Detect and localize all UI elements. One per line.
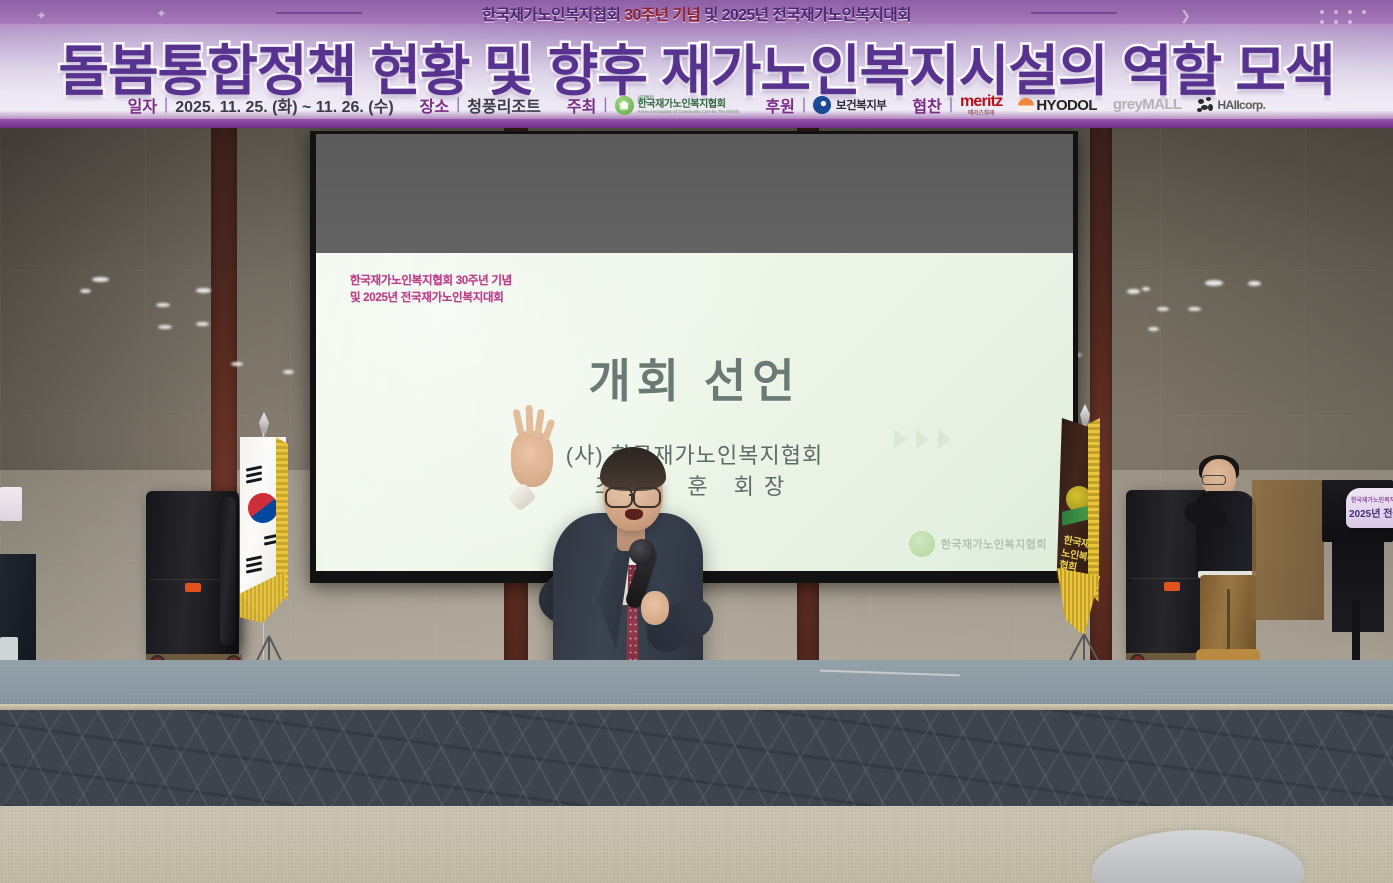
slide-footer-logo-text: 한국재가노인복지협회	[941, 536, 1047, 552]
left-wall-sign	[0, 487, 22, 521]
banner-support-label: 후원	[765, 93, 794, 117]
lectern-sign-line1: 한국재가노인복지협회	[1351, 495, 1393, 504]
banner-subtitle-part1: 한국재가노인복지협회	[482, 7, 625, 24]
ceiling-light-reflection	[1248, 281, 1261, 286]
ceiling-light-reflection	[92, 277, 109, 282]
banner-place-label: 장소	[420, 93, 449, 117]
staff-pant-split	[1227, 589, 1230, 653]
support-logo-text: 보건복지부	[836, 97, 886, 113]
presenter-finger	[512, 409, 524, 436]
presenter-finger	[541, 418, 555, 441]
banner-sponsor-label: 협찬	[912, 93, 941, 117]
banner-subtitle-part2: 및 2025년 전국재가노인복지대회	[700, 7, 911, 24]
house-logo-icon	[615, 96, 634, 115]
host-logo-en: Korea Association of Community Care for …	[638, 110, 740, 114]
flag-gold-fringe	[1054, 568, 1102, 636]
ceiling-light-reflection	[231, 362, 243, 366]
ceiling-light-reflection	[1142, 287, 1150, 291]
sponsor-meritz-name: meritz	[960, 94, 1002, 110]
banner-place-value: 청풍리조트	[467, 93, 541, 117]
wooden-pallet	[1252, 480, 1324, 620]
hall-dots-icon	[1197, 97, 1214, 114]
lectern-event-sign: 한국재가노인복지협회 2025년 전국	[1346, 488, 1393, 528]
ceiling-light-reflection	[156, 303, 170, 307]
eyeglasses-bridge-icon	[629, 494, 635, 496]
speaker-cabinet-left-rear	[220, 497, 236, 645]
sponsor-logo-greymall: greyMALL	[1113, 96, 1182, 114]
event-banner: ✦ ✦ ✦ ❯ 한국재가노인복지협회 30주년 기념 및 2025년 전국재가노…	[0, 0, 1393, 128]
ceiling-light-reflection	[158, 325, 172, 329]
presenter-mic-hand	[641, 591, 669, 625]
ceiling-light-reflection	[1157, 307, 1169, 311]
ceiling-light-reflection	[196, 288, 211, 293]
banner-date-label: 일자	[128, 93, 157, 117]
banner-divider: |	[456, 96, 460, 114]
jbl-logo-icon	[1164, 582, 1180, 591]
jbl-logo-icon	[185, 583, 201, 592]
korean-national-flag	[240, 437, 296, 632]
hyodol-mascot-icon	[1018, 98, 1034, 112]
banner-divider: |	[949, 96, 953, 114]
ceiling-light-reflection	[1148, 327, 1159, 331]
banner-subtitle-highlight: 30주년 기념	[624, 7, 700, 24]
banner-host-label: 주최	[567, 93, 596, 117]
sponsor-hyodol-name: HYODOL	[1036, 97, 1097, 114]
sponsor-logo-hyodol: HYODOL	[1018, 97, 1097, 114]
projection-screen-upper-dark	[316, 134, 1073, 253]
presenter-hair	[600, 447, 666, 491]
banner-divider: |	[603, 96, 607, 114]
slide-kicker: 한국재가노인복지협회 30주년 기념 및 2025년 전국재가노인복지대회	[350, 273, 512, 306]
ceiling-light-reflection	[1205, 280, 1223, 286]
banner-divider: |	[802, 96, 806, 114]
ceiling-light-reflection	[283, 370, 294, 374]
slide-arrow-decoration	[894, 429, 951, 449]
ceiling-light-reflection	[1127, 289, 1140, 294]
microphone-head-icon	[629, 539, 655, 565]
eyeglasses-icon	[605, 487, 633, 508]
presenter-finger	[525, 405, 533, 435]
lectern-podium: 한국재가노인복지협회 2025년 전국	[1322, 480, 1393, 680]
slide-footer-logo: 한국재가노인복지협회	[909, 531, 1047, 557]
banner-divider: |	[164, 96, 168, 114]
ceiling-light-reflection	[80, 289, 91, 293]
eyeglasses-icon	[1202, 475, 1226, 485]
banner-date-value: 2025. 11. 25. (화) ~ 11. 26. (수)	[175, 93, 393, 117]
presenter-mouth	[625, 509, 643, 520]
sponsor-logo-hallcorp: HAIIcorp.	[1197, 97, 1265, 114]
lectern-sign-line2: 2025년 전국	[1349, 505, 1393, 520]
sponsor-meritz-sub: 메리츠화재	[968, 111, 995, 117]
slide-kicker-line1: 한국재가노인복지협회 30주년 기념	[350, 273, 512, 290]
association-logo-mark-icon	[909, 531, 935, 557]
conference-stage-photo: 한국재가노인복지협회 30주년 기념 및 2025년 전국재가노인복지대회 개회…	[0, 0, 1393, 883]
taeguk-emblem-icon	[813, 96, 831, 114]
host-logo-kacce: 사단법인 한국재가노인복지협회 Korea Association of Com…	[615, 96, 740, 115]
banner-info-row: 일자 | 2025. 11. 25. (화) ~ 11. 26. (수) 장소 …	[0, 93, 1393, 117]
support-logo-mohw: 보건복지부	[813, 96, 886, 114]
slide-kicker-line2: 및 2025년 전국재가노인복지대회	[350, 290, 512, 307]
sponsor-greymall-name: greyMALL	[1113, 96, 1182, 113]
sponsor-logo-meritz: meritz 메리츠화재	[960, 94, 1002, 117]
association-ceremonial-flag: 한국재가노인복지협회 Korea Association of Communit…	[1050, 408, 1108, 638]
sponsor-hallcorp-name: HAIIcorp.	[1217, 98, 1265, 112]
eyeglasses-icon	[633, 487, 661, 508]
ceiling-light-reflection	[1188, 307, 1201, 311]
stage-front-pattern	[0, 710, 1393, 806]
ceiling-light-reflection	[196, 322, 209, 326]
banner-bottom-strip	[0, 119, 1393, 128]
banner-subtitle: 한국재가노인복지협회 30주년 기념 및 2025년 전국재가노인복지대회	[0, 3, 1393, 25]
